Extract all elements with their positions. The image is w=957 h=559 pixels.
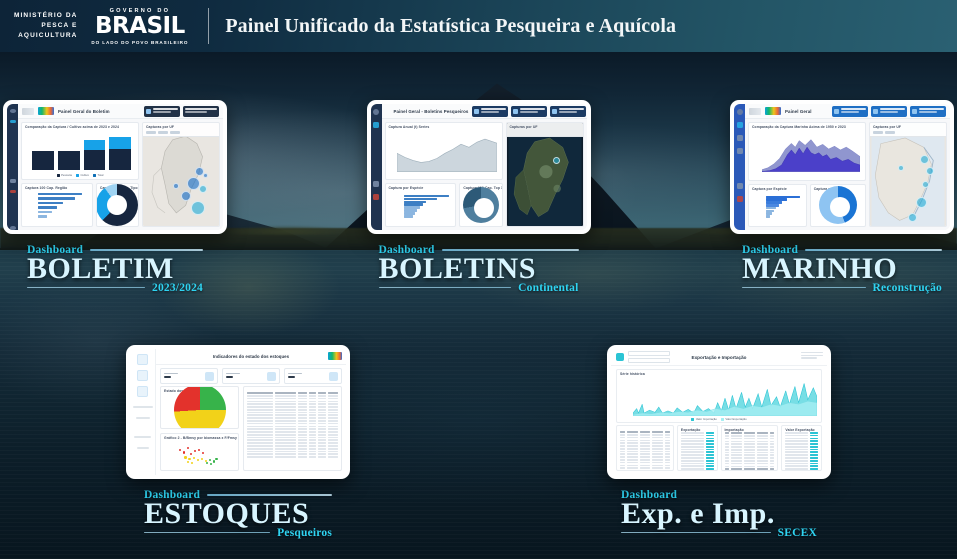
table-row bbox=[247, 439, 338, 441]
home-icon bbox=[373, 109, 379, 115]
table-row bbox=[247, 423, 338, 425]
table-valor: Valor Exportação bbox=[781, 425, 822, 471]
sidebar-note bbox=[136, 417, 150, 419]
tile-title: ESTOQUES bbox=[144, 499, 332, 530]
table-row bbox=[247, 451, 338, 453]
ministry-mark-icon bbox=[749, 108, 761, 115]
report-sidebar bbox=[734, 104, 745, 230]
report-header: Exportação e Importação bbox=[611, 349, 827, 366]
filter-icon bbox=[373, 181, 379, 187]
table-row bbox=[247, 412, 338, 414]
caption-rule bbox=[207, 494, 332, 496]
panel-sector-donut: Captura por Setor bbox=[810, 184, 866, 227]
table-row bbox=[247, 453, 338, 455]
caption-rule-bottom bbox=[379, 287, 512, 289]
table-row bbox=[247, 406, 338, 408]
caption-rule-bottom bbox=[27, 287, 145, 289]
panel-species-bars: Captura por Espécie bbox=[385, 183, 457, 227]
ministry-logo: MINISTÉRIO DA PESCA E AQUICULTURA bbox=[14, 11, 77, 41]
caption-rule-bottom bbox=[621, 532, 771, 534]
table-serie-historica bbox=[616, 425, 674, 471]
table-row bbox=[247, 417, 338, 419]
table-row bbox=[247, 428, 338, 430]
ministry-line-2: PESCA E bbox=[14, 21, 77, 31]
page-title: Painel Unificado da Estatística Pesqueir… bbox=[225, 15, 676, 38]
kpi-card bbox=[472, 106, 508, 117]
table-row bbox=[247, 403, 338, 405]
table-row bbox=[247, 445, 338, 447]
caption-boletins: Dashboard BOLETINS Continental bbox=[367, 244, 591, 294]
sidebar-note bbox=[134, 436, 151, 438]
table-row bbox=[247, 401, 338, 403]
grid-icon bbox=[267, 372, 276, 381]
brasil-mark-icon bbox=[765, 107, 781, 115]
panel-species-bars: Captura por Espécie bbox=[748, 184, 807, 227]
panel-area-chart: Comparação da Captura Marinha Acima de 1… bbox=[748, 122, 866, 181]
horizontal-bar-chart bbox=[766, 196, 800, 218]
document-icon bbox=[137, 386, 148, 397]
header-divider bbox=[208, 8, 209, 44]
dashboard-grid-row-top: Painel Geral do Boletim bbox=[0, 100, 957, 294]
page-root: MINISTÉRIO DA PESCA E AQUICULTURA GOVERN… bbox=[0, 0, 957, 559]
alert-icon bbox=[10, 190, 16, 194]
table-row bbox=[247, 398, 338, 400]
caption-boletim: Dashboard BOLETIM 2023/2024 bbox=[3, 244, 227, 294]
bar-chart bbox=[22, 123, 138, 179]
map-brazil-coast: Capturas por UF bbox=[870, 123, 946, 226]
thumbnail-marinho[interactable]: Painel Geral Comparação da Captura Marin… bbox=[730, 100, 954, 234]
government-logo: GOVERNO DO BRASIL DO LADO DO POVO BRASIL… bbox=[91, 8, 188, 45]
report-sidebar bbox=[7, 104, 18, 230]
table-row bbox=[247, 456, 338, 458]
dashboard-tile-exp-imp[interactable]: Exportação e Importação Série histórica … bbox=[607, 345, 831, 539]
table-row bbox=[247, 437, 338, 439]
report-sidebar bbox=[130, 349, 156, 475]
table-importacao: Importação bbox=[721, 425, 779, 471]
table-row bbox=[247, 431, 338, 433]
thumbnail-exp-imp[interactable]: Exportação e Importação Série histórica … bbox=[607, 345, 831, 479]
tile-subtitle: Continental bbox=[518, 282, 578, 294]
map-outline-icon bbox=[870, 123, 946, 226]
area-chart bbox=[633, 376, 817, 416]
panel-pie: Estado dos estoques bbox=[160, 386, 239, 429]
caption-rule-bottom bbox=[144, 532, 270, 534]
sidebar-note bbox=[137, 447, 149, 449]
data-table bbox=[244, 387, 341, 470]
panel-region-bars: Captura 100 Cap. Região bbox=[21, 183, 93, 227]
area-chart bbox=[397, 131, 497, 172]
panel-type-donut: Captura 100 Cap. Tipo bbox=[96, 183, 139, 227]
donut-chart bbox=[460, 184, 501, 226]
table-row bbox=[247, 442, 338, 444]
kpi-card bbox=[832, 106, 868, 117]
kpi-card bbox=[550, 106, 586, 117]
caption-rule bbox=[805, 249, 942, 251]
chart-icon bbox=[137, 370, 148, 381]
tables-row: Exportação bbox=[611, 425, 827, 475]
table-row bbox=[247, 426, 338, 428]
caption-rule-bottom bbox=[742, 287, 866, 289]
report-title: Painel Geral - Boletins Pesqueiros bbox=[394, 109, 469, 114]
chart-legend: Pescaria Cultivo Total bbox=[22, 173, 138, 177]
report-page-icon bbox=[10, 120, 16, 124]
report-sidebar bbox=[371, 104, 382, 230]
home-icon bbox=[737, 109, 743, 115]
report-kpis bbox=[832, 106, 946, 117]
table-row bbox=[247, 448, 338, 450]
donut-chart bbox=[97, 184, 138, 226]
thumbnail-boletim[interactable]: Painel Geral do Boletim bbox=[3, 100, 227, 234]
panel-area-chart: Série histórica Valor Importação Valor E… bbox=[616, 369, 822, 423]
tile-title: MARINHO bbox=[742, 254, 942, 285]
panel-map: Capturas por UF bbox=[142, 122, 220, 227]
report-title: Painel Geral do Boletim bbox=[58, 109, 110, 114]
kpi-card bbox=[222, 368, 280, 384]
report-kpis bbox=[472, 106, 586, 117]
data-table bbox=[617, 426, 673, 470]
donut-chart bbox=[811, 185, 865, 226]
table-exportacao: Exportação bbox=[677, 425, 718, 471]
ministry-line-1: MINISTÉRIO DA bbox=[14, 11, 77, 21]
panel-area-chart: Captura Anual (t) Series bbox=[385, 122, 503, 180]
kpi-card bbox=[511, 106, 547, 117]
kpi-card bbox=[183, 106, 219, 117]
menu-icon[interactable] bbox=[616, 353, 624, 361]
panel-scatter: Gráfico 2 - B/Bmsy por biomassa x F/Fmsy… bbox=[160, 433, 239, 471]
brasil-mark-icon bbox=[38, 107, 54, 115]
sidebar-note bbox=[133, 406, 153, 408]
fish-icon bbox=[146, 109, 151, 114]
table-row bbox=[247, 420, 338, 422]
gov-logo-brand: BRASIL bbox=[91, 15, 188, 38]
share-icon bbox=[737, 135, 743, 141]
settings-icon bbox=[10, 226, 16, 230]
panel-table bbox=[243, 386, 342, 471]
ministry-line-3: AQUICULTURA bbox=[14, 31, 77, 41]
home-icon bbox=[137, 354, 148, 365]
panel-bar-chart: Comparação da Captura / Cultivo acima de… bbox=[21, 122, 139, 180]
table-row bbox=[247, 395, 338, 397]
thumbnail-estoques[interactable]: Indicadores do estado dos estoques bbox=[126, 345, 350, 479]
map-outline-icon bbox=[507, 123, 583, 226]
tile-title: BOLETIM bbox=[27, 254, 203, 285]
alert-icon bbox=[737, 196, 743, 202]
map-satellite: Capturas por UF bbox=[507, 123, 583, 226]
app-header: MINISTÉRIO DA PESCA E AQUICULTURA GOVERN… bbox=[0, 0, 957, 52]
area-chart bbox=[762, 134, 860, 172]
dashboard-tile-boletins[interactable]: Painel Geral - Boletins Pesqueiros Captu… bbox=[367, 100, 591, 294]
tile-subtitle: SECEX bbox=[778, 527, 817, 539]
tile-title: Exp. e Imp. bbox=[621, 499, 817, 530]
gov-logo-tagline: DO LADO DO POVO BRASILEIRO bbox=[91, 40, 188, 45]
tile-subtitle: Reconstrução bbox=[873, 282, 942, 294]
report-note bbox=[801, 352, 823, 360]
scatter-chart bbox=[167, 442, 234, 465]
tile-title: BOLETINS bbox=[379, 254, 579, 285]
report-kpis bbox=[144, 106, 219, 117]
report-header: Indicadores do estado dos estoques bbox=[156, 349, 346, 365]
caption-rule bbox=[90, 249, 203, 251]
report-topbar: Painel Geral - Boletins Pesqueiros bbox=[382, 104, 587, 119]
report-topbar: Painel Geral bbox=[745, 104, 950, 119]
report-title: Indicadores do estado dos estoques bbox=[213, 354, 289, 359]
dashboard-tile-estoques[interactable]: Indicadores do estado dos estoques bbox=[126, 345, 350, 539]
filter-dropdown[interactable] bbox=[628, 351, 670, 357]
filter-icon bbox=[10, 179, 16, 183]
dashboard-grid-row-bottom: Indicadores do estado dos estoques bbox=[0, 345, 957, 539]
thumbnail-boletins[interactable]: Painel Geral - Boletins Pesqueiros Captu… bbox=[367, 100, 591, 234]
kpi-card bbox=[910, 106, 946, 117]
caption-rule bbox=[442, 249, 579, 251]
kpi-card bbox=[871, 106, 907, 117]
caption-marinho: Dashboard MARINHO Reconstrução bbox=[730, 244, 954, 294]
caption-estoques: Dashboard ESTOQUES Pesqueiros bbox=[126, 489, 350, 539]
edit-icon bbox=[737, 148, 743, 154]
filter-icon bbox=[737, 183, 743, 189]
filter-dropdown[interactable] bbox=[628, 358, 670, 364]
horizontal-bar-chart bbox=[404, 195, 450, 218]
report-topbar: Painel Geral do Boletim bbox=[18, 104, 223, 119]
kpi-card bbox=[144, 106, 180, 117]
panel-map: Capturas por UF bbox=[869, 122, 947, 227]
kpi-card bbox=[284, 368, 342, 384]
pie-chart bbox=[161, 387, 238, 428]
report-page-icon bbox=[373, 122, 379, 128]
kpi-row bbox=[156, 365, 346, 386]
home-icon bbox=[10, 109, 16, 113]
horizontal-bar-chart bbox=[38, 193, 86, 218]
map-brazil: Capturas por UF bbox=[143, 123, 219, 226]
fish-icon bbox=[205, 372, 214, 381]
tile-subtitle: Pesqueiros bbox=[277, 527, 332, 539]
person-icon bbox=[329, 372, 338, 381]
ministry-mark-icon bbox=[22, 108, 34, 115]
table-row bbox=[247, 409, 338, 411]
kpi-card bbox=[160, 368, 218, 384]
report-page-icon bbox=[737, 122, 743, 128]
tile-subtitle: 2023/2024 bbox=[152, 282, 203, 294]
caption-exp-imp: Dashboard Exp. e Imp. SECEX bbox=[607, 489, 831, 539]
panel-map: Capturas por UF bbox=[506, 122, 584, 227]
dashboard-tile-marinho[interactable]: Painel Geral Comparação da Captura Marin… bbox=[730, 100, 954, 294]
dashboard-tile-boletim[interactable]: Painel Geral do Boletim bbox=[3, 100, 227, 294]
brand-block: MINISTÉRIO DA PESCA E AQUICULTURA GOVERN… bbox=[0, 0, 188, 52]
table-header-row bbox=[247, 392, 338, 394]
panel-top10-donut: Captura 100 Cap. Top 10 (t/ano) bbox=[459, 183, 502, 227]
alert-icon bbox=[373, 194, 379, 200]
brasil-mark-icon bbox=[328, 352, 342, 360]
report-title: Painel Geral bbox=[785, 109, 812, 114]
table-row bbox=[247, 434, 338, 436]
table-row bbox=[247, 414, 338, 416]
